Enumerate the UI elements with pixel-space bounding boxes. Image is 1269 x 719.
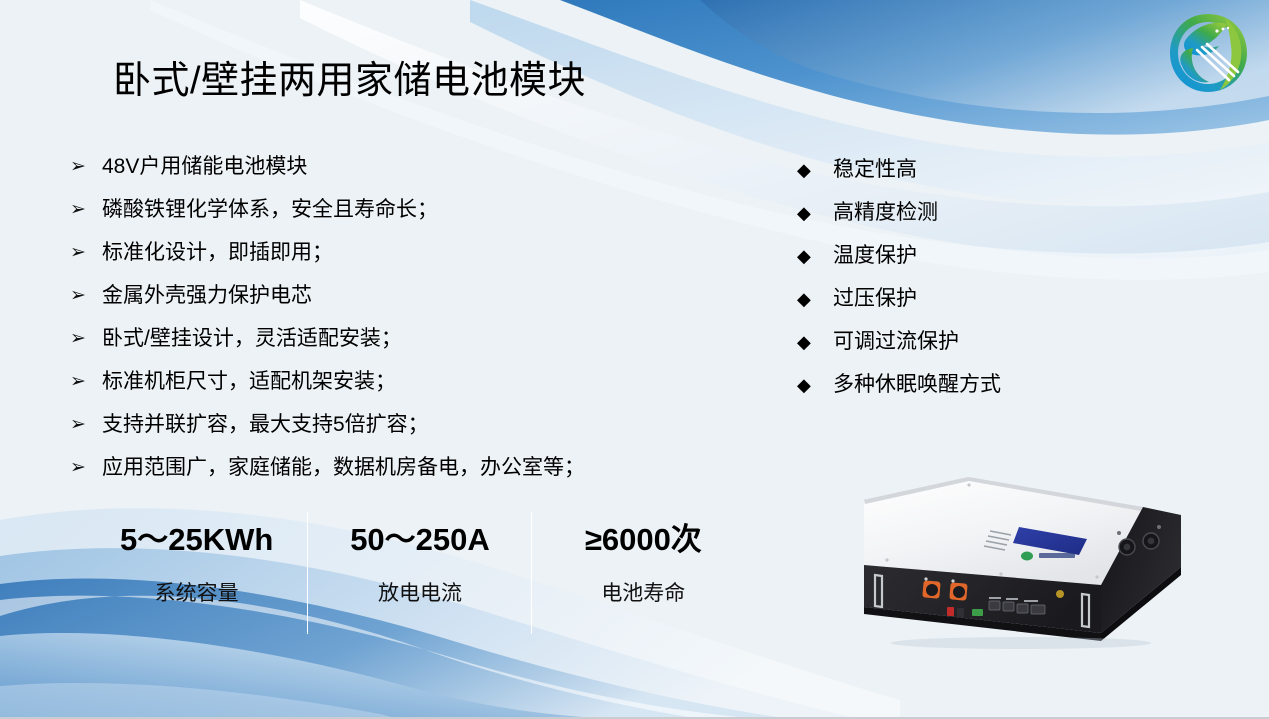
- list-item: ➢ 标准化设计，即插即用；: [70, 238, 710, 281]
- arrow-bullet-icon: ➢: [70, 281, 102, 311]
- list-item: ➢ 卧式/壁挂设计，灵活适配安装；: [70, 324, 710, 367]
- list-item: ➢ 金属外壳强力保护电芯: [70, 281, 710, 324]
- spec-label: 高精度检测: [833, 198, 1117, 228]
- list-item: ◆ 稳定性高: [797, 155, 1117, 198]
- stat-label: 放电电流: [378, 580, 462, 608]
- feature-label: 应用范围广，家庭储能，数据机房备电，办公室等；: [102, 453, 710, 483]
- list-item: ➢ 标准机柜尺寸，适配机架安装；: [70, 367, 710, 410]
- list-item: ➢ 支持并联扩容，最大支持5倍扩容；: [70, 410, 710, 453]
- arrow-bullet-icon: ➢: [70, 238, 102, 268]
- feature-label: 48V户用储能电池模块: [102, 152, 710, 182]
- stats-row: 5～25KWh 系统容量 50～250A 放电电流 ≥6000次 电池寿命: [85, 512, 755, 634]
- arrow-bullet-icon: ➢: [70, 324, 102, 354]
- spec-label: 可调过流保护: [833, 327, 1117, 357]
- list-item: ➢ 应用范围广，家庭储能，数据机房备电，办公室等；: [70, 453, 710, 496]
- stat-current: 50～250A 放电电流: [308, 512, 531, 634]
- stat-lifecycle: ≥6000次 电池寿命: [532, 512, 755, 634]
- list-item: ◆ 多种休眠唤醒方式: [797, 370, 1117, 413]
- list-item: ➢ 磷酸铁锂化学体系，安全且寿命长；: [70, 195, 710, 238]
- spec-label: 过压保护: [833, 284, 1117, 314]
- arrow-bullet-icon: ➢: [70, 367, 102, 397]
- list-item: ◆ 温度保护: [797, 241, 1117, 284]
- diamond-bullet-icon: ◆: [797, 198, 833, 228]
- company-logo: [1163, 8, 1253, 98]
- stat-value: ≥6000次: [585, 518, 702, 562]
- arrow-bullet-icon: ➢: [70, 195, 102, 225]
- arrow-bullet-icon: ➢: [70, 410, 102, 440]
- diamond-bullet-icon: ◆: [797, 241, 833, 271]
- battery-module-photo: [851, 455, 1207, 650]
- feature-label: 标准机柜尺寸，适配机架安装；: [102, 367, 710, 397]
- diamond-bullet-icon: ◆: [797, 155, 833, 185]
- stat-label: 电池寿命: [601, 580, 685, 608]
- page-title: 卧式/壁挂两用家储电池模块: [113, 56, 586, 106]
- spec-label: 多种休眠唤醒方式: [833, 370, 1117, 400]
- feature-label: 标准化设计，即插即用；: [102, 238, 710, 268]
- stat-value: 5～25KWh: [120, 518, 273, 562]
- list-item: ➢ 48V户用储能电池模块: [70, 152, 710, 195]
- feature-label: 支持并联扩容，最大支持5倍扩容；: [102, 410, 710, 440]
- stat-capacity: 5～25KWh 系统容量: [85, 512, 308, 634]
- spec-list: ◆ 稳定性高 ◆ 高精度检测 ◆ 温度保护 ◆ 过压保护 ◆ 可调过流保护 ◆ …: [797, 155, 1117, 413]
- spec-label: 温度保护: [833, 241, 1117, 271]
- arrow-bullet-icon: ➢: [70, 152, 102, 182]
- slide-canvas: 卧式/壁挂两用家储电池模块 ➢ 48V户用储能电池模块 ➢ 磷酸铁锂化学体系，安…: [0, 0, 1269, 719]
- feature-list: ➢ 48V户用储能电池模块 ➢ 磷酸铁锂化学体系，安全且寿命长； ➢ 标准化设计…: [70, 152, 710, 496]
- feature-label: 金属外壳强力保护电芯: [102, 281, 710, 311]
- stat-label: 系统容量: [155, 580, 239, 608]
- feature-label: 卧式/壁挂设计，灵活适配安装；: [102, 324, 710, 354]
- stat-value: 50～250A: [350, 518, 490, 562]
- list-item: ◆ 高精度检测: [797, 198, 1117, 241]
- arrow-bullet-icon: ➢: [70, 453, 102, 483]
- spec-label: 稳定性高: [833, 155, 1117, 185]
- diamond-bullet-icon: ◆: [797, 370, 833, 400]
- list-item: ◆ 过压保护: [797, 284, 1117, 327]
- feature-label: 磷酸铁锂化学体系，安全且寿命长；: [102, 195, 710, 225]
- list-item: ◆ 可调过流保护: [797, 327, 1117, 370]
- diamond-bullet-icon: ◆: [797, 327, 833, 357]
- diamond-bullet-icon: ◆: [797, 284, 833, 314]
